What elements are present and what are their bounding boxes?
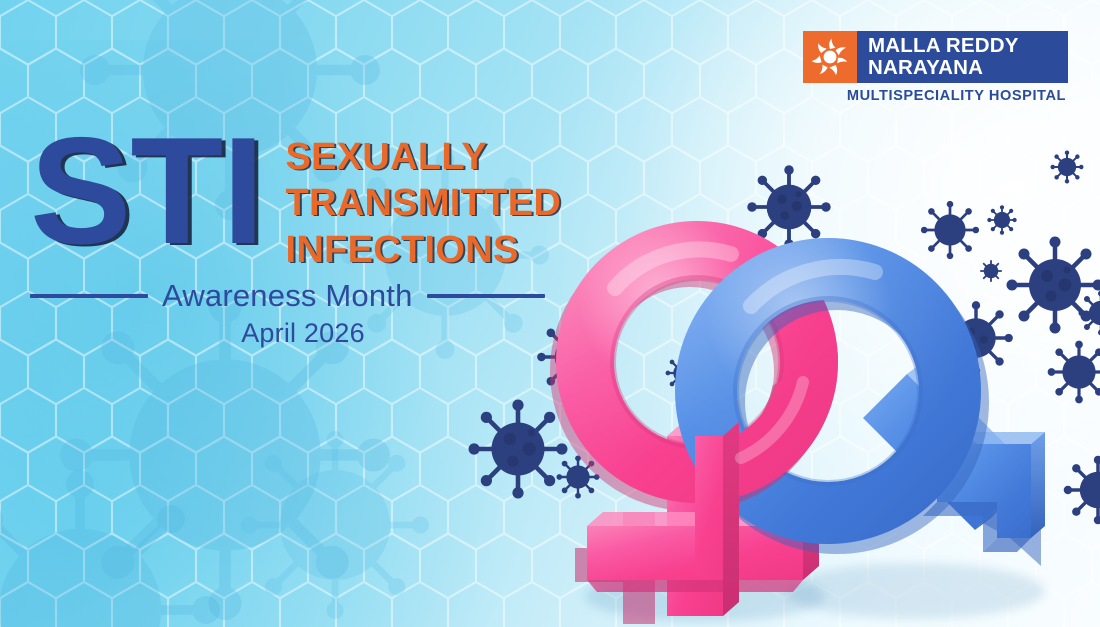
logo-name-line1: MALLA REDDY — [868, 35, 1058, 57]
logo-main-row: MALLA REDDY NARAYANA — [803, 31, 1068, 83]
title-expansion: SEXUALLY TRANSMITTED INFECTIONS — [285, 135, 561, 272]
rule-left — [30, 294, 148, 298]
virus-icon — [1050, 150, 1084, 184]
rule-right — [427, 294, 545, 298]
expansion-line-1: SEXUALLY — [285, 135, 561, 179]
sun-icon — [803, 31, 857, 83]
virus-icon — [1078, 290, 1100, 336]
awareness-row: Awareness Month — [30, 278, 580, 314]
logo-name-block: MALLA REDDY NARAYANA — [857, 31, 1068, 83]
logo-subtitle: MULTISPECIALITY HOSPITAL — [803, 88, 1068, 104]
expansion-line-3: INFECTIONS — [285, 228, 561, 272]
title-row: STI SEXUALLY TRANSMITTED INFECTIONS — [30, 126, 561, 272]
mars-symbol-icon — [706, 267, 1045, 566]
logo-name-line2: NARAYANA — [868, 57, 1058, 79]
awareness-date: April 2026 — [30, 318, 576, 349]
ghost-virus-icon — [0, 470, 220, 627]
headline-block: STI SEXUALLY TRANSMITTED INFECTIONS Awar… — [0, 0, 620, 360]
hospital-logo[interactable]: MALLA REDDY NARAYANA MULTISPECIALITY HOS… — [803, 31, 1068, 111]
ghost-virus-icon — [240, 430, 430, 620]
awareness-label: Awareness Month — [162, 278, 413, 314]
gender-symbols-illustration — [545, 196, 1065, 627]
virus-icon — [1063, 455, 1100, 525]
expansion-line-2: TRANSMITTED — [285, 181, 561, 225]
page-title-acronym: STI — [30, 126, 263, 257]
sti-awareness-banner: MALLA REDDY NARAYANA MULTISPECIALITY HOS… — [0, 0, 1100, 627]
